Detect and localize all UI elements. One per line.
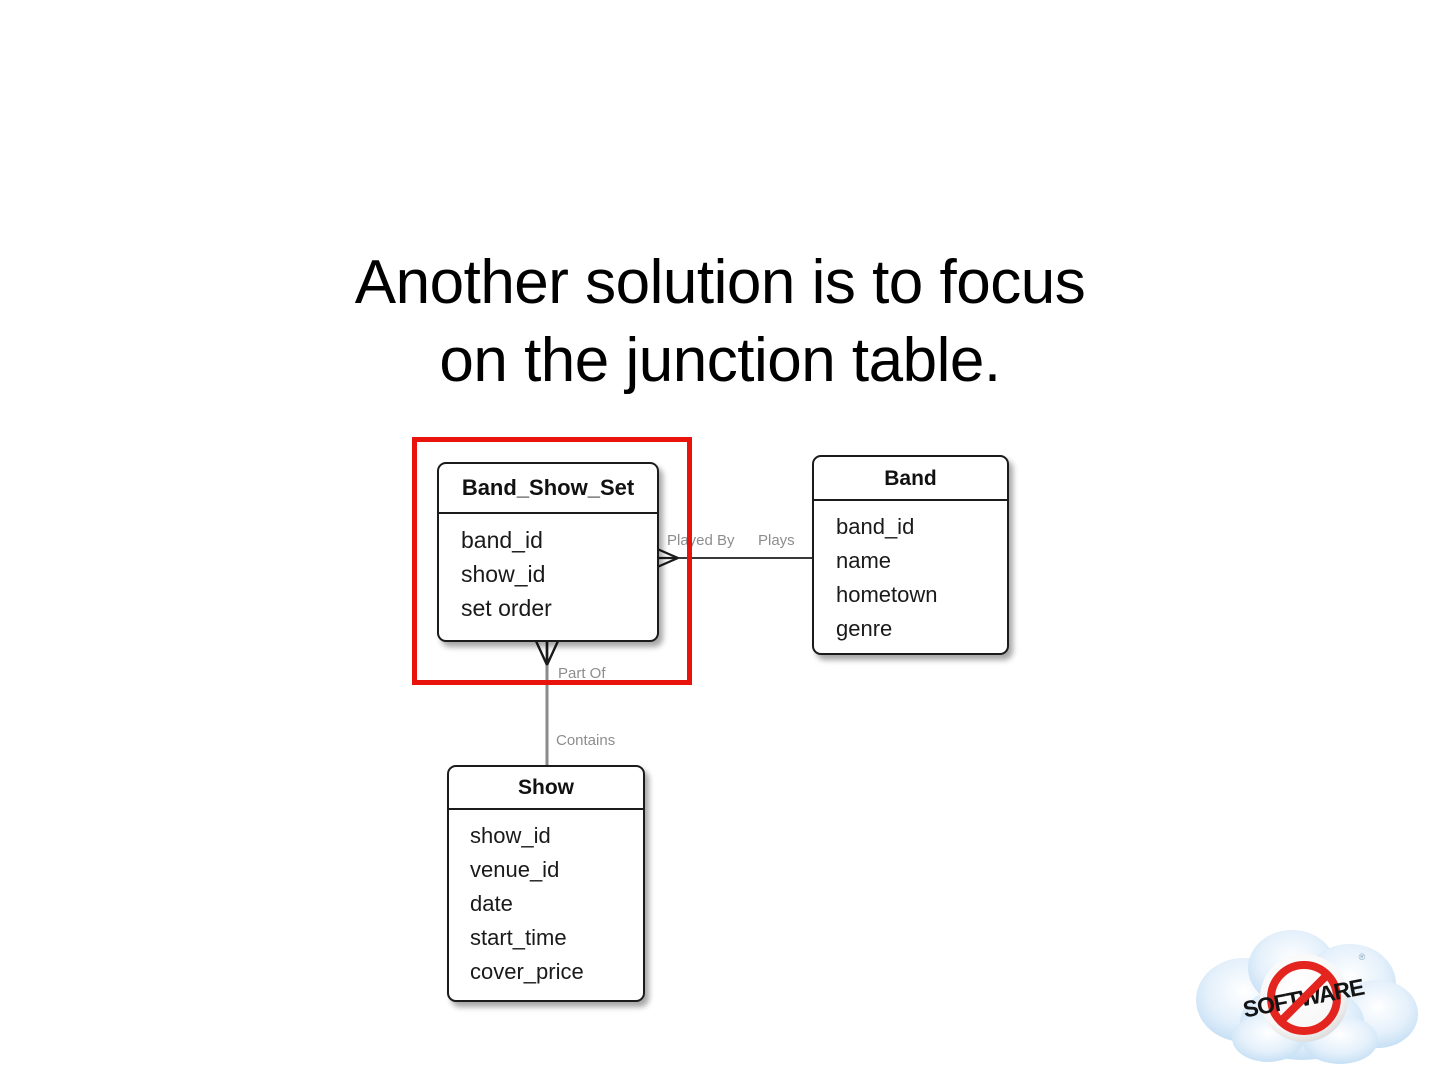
field-row: cover_price [470,955,643,989]
entity-title-band: Band [814,457,1007,501]
entity-show[interactable]: Show show_id venue_id date start_time co… [447,765,645,1002]
registered-mark: ® [1359,952,1366,962]
slide-canvas: Another solution is to focus on the junc… [0,0,1440,1080]
entity-fields-show: show_id venue_id date start_time cover_p… [449,810,643,999]
field-row: hometown [836,578,1007,612]
field-row: genre [836,612,1007,646]
entity-band[interactable]: Band band_id name hometown genre [812,455,1009,655]
field-row: start_time [470,921,643,955]
field-row: date [470,887,643,921]
relationship-label-plays: Plays [758,532,795,549]
field-row: band_id [836,510,1007,544]
field-row: show_id [470,819,643,853]
field-row: venue_id [470,853,643,887]
field-row: name [836,544,1007,578]
no-software-cloud-logo: SOFTWARE ® [1182,910,1432,1070]
highlight-rectangle-junction-table [412,437,692,685]
relationship-label-contains: Contains [556,732,615,749]
entity-title-show: Show [449,767,643,810]
entity-fields-band: band_id name hometown genre [814,501,1007,656]
